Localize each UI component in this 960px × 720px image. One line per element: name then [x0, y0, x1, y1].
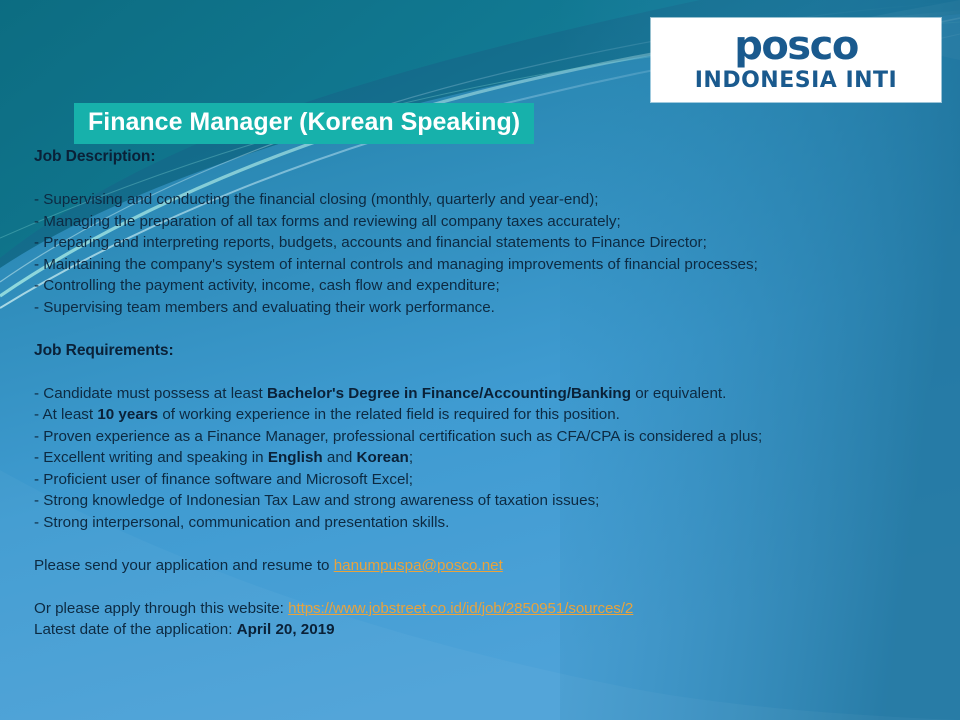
application-website-link[interactable]: https://www.jobstreet.co.id/id/job/28509… [288, 600, 633, 617]
job-requirement-item: - Excellent writing and speaking in Engl… [34, 447, 950, 469]
job-requirements-heading: Job Requirements: [34, 340, 950, 362]
requirement-emphasis: 10 years [97, 406, 158, 423]
requirement-text: or equivalent. [631, 385, 726, 402]
job-description-item: - Maintaining the company's system of in… [34, 254, 950, 276]
application-email-line: Please send your application and resume … [34, 555, 950, 577]
requirement-text: and [323, 449, 357, 466]
application-email-label: Please send your application and resume … [34, 557, 334, 574]
job-description-item: - Controlling the payment activity, inco… [34, 275, 950, 297]
job-posting-body: Job Description: - Supervising and condu… [34, 146, 950, 641]
requirement-text: - At least [34, 406, 97, 423]
job-posting-slide: posco INDONESIA INTI Finance Manager (Ko… [0, 0, 960, 720]
application-deadline-value: April 20, 2019 [237, 621, 335, 638]
job-description-item: - Supervising and conducting the financi… [34, 189, 950, 211]
job-requirement-item: - Proven experience as a Finance Manager… [34, 426, 950, 448]
job-description-item: - Managing the preparation of all tax fo… [34, 211, 950, 233]
requirement-text: ; [409, 449, 413, 466]
job-title-banner: Finance Manager (Korean Speaking) [74, 103, 534, 144]
page-title: Finance Manager (Korean Speaking) [88, 108, 520, 136]
logo-subtitle-text: INDONESIA INTI [651, 70, 941, 92]
requirement-text: - Candidate must possess at least [34, 385, 267, 402]
job-description-item: - Supervising team members and evaluatin… [34, 297, 950, 319]
requirement-emphasis: Bachelor's Degree in Finance/Accounting/… [267, 385, 631, 402]
job-requirement-item: - Strong interpersonal, communication an… [34, 512, 950, 534]
requirement-emphasis: Korean [356, 449, 408, 466]
job-requirement-item: - Candidate must possess at least Bachel… [34, 383, 950, 405]
job-description-heading: Job Description: [34, 146, 950, 168]
requirement-emphasis: English [268, 449, 323, 466]
job-requirement-item: - Strong knowledge of Indonesian Tax Law… [34, 490, 950, 512]
requirement-text: of working experience in the related fie… [158, 406, 620, 423]
application-deadline-line: Latest date of the application: April 20… [34, 619, 950, 641]
job-requirement-item: - At least 10 years of working experienc… [34, 404, 950, 426]
logo-brand-text: posco [651, 26, 941, 66]
application-website-label: Or please apply through this website: [34, 600, 288, 617]
application-email-link[interactable]: hanumpuspa@posco.net [334, 557, 503, 574]
requirement-text: - Excellent writing and speaking in [34, 449, 268, 466]
application-deadline-label: Latest date of the application: [34, 621, 237, 638]
company-logo: posco INDONESIA INTI [651, 18, 941, 102]
application-website-line: Or please apply through this website: ht… [34, 598, 950, 620]
job-requirement-item: - Proficient user of finance software an… [34, 469, 950, 491]
job-description-item: - Preparing and interpreting reports, bu… [34, 232, 950, 254]
